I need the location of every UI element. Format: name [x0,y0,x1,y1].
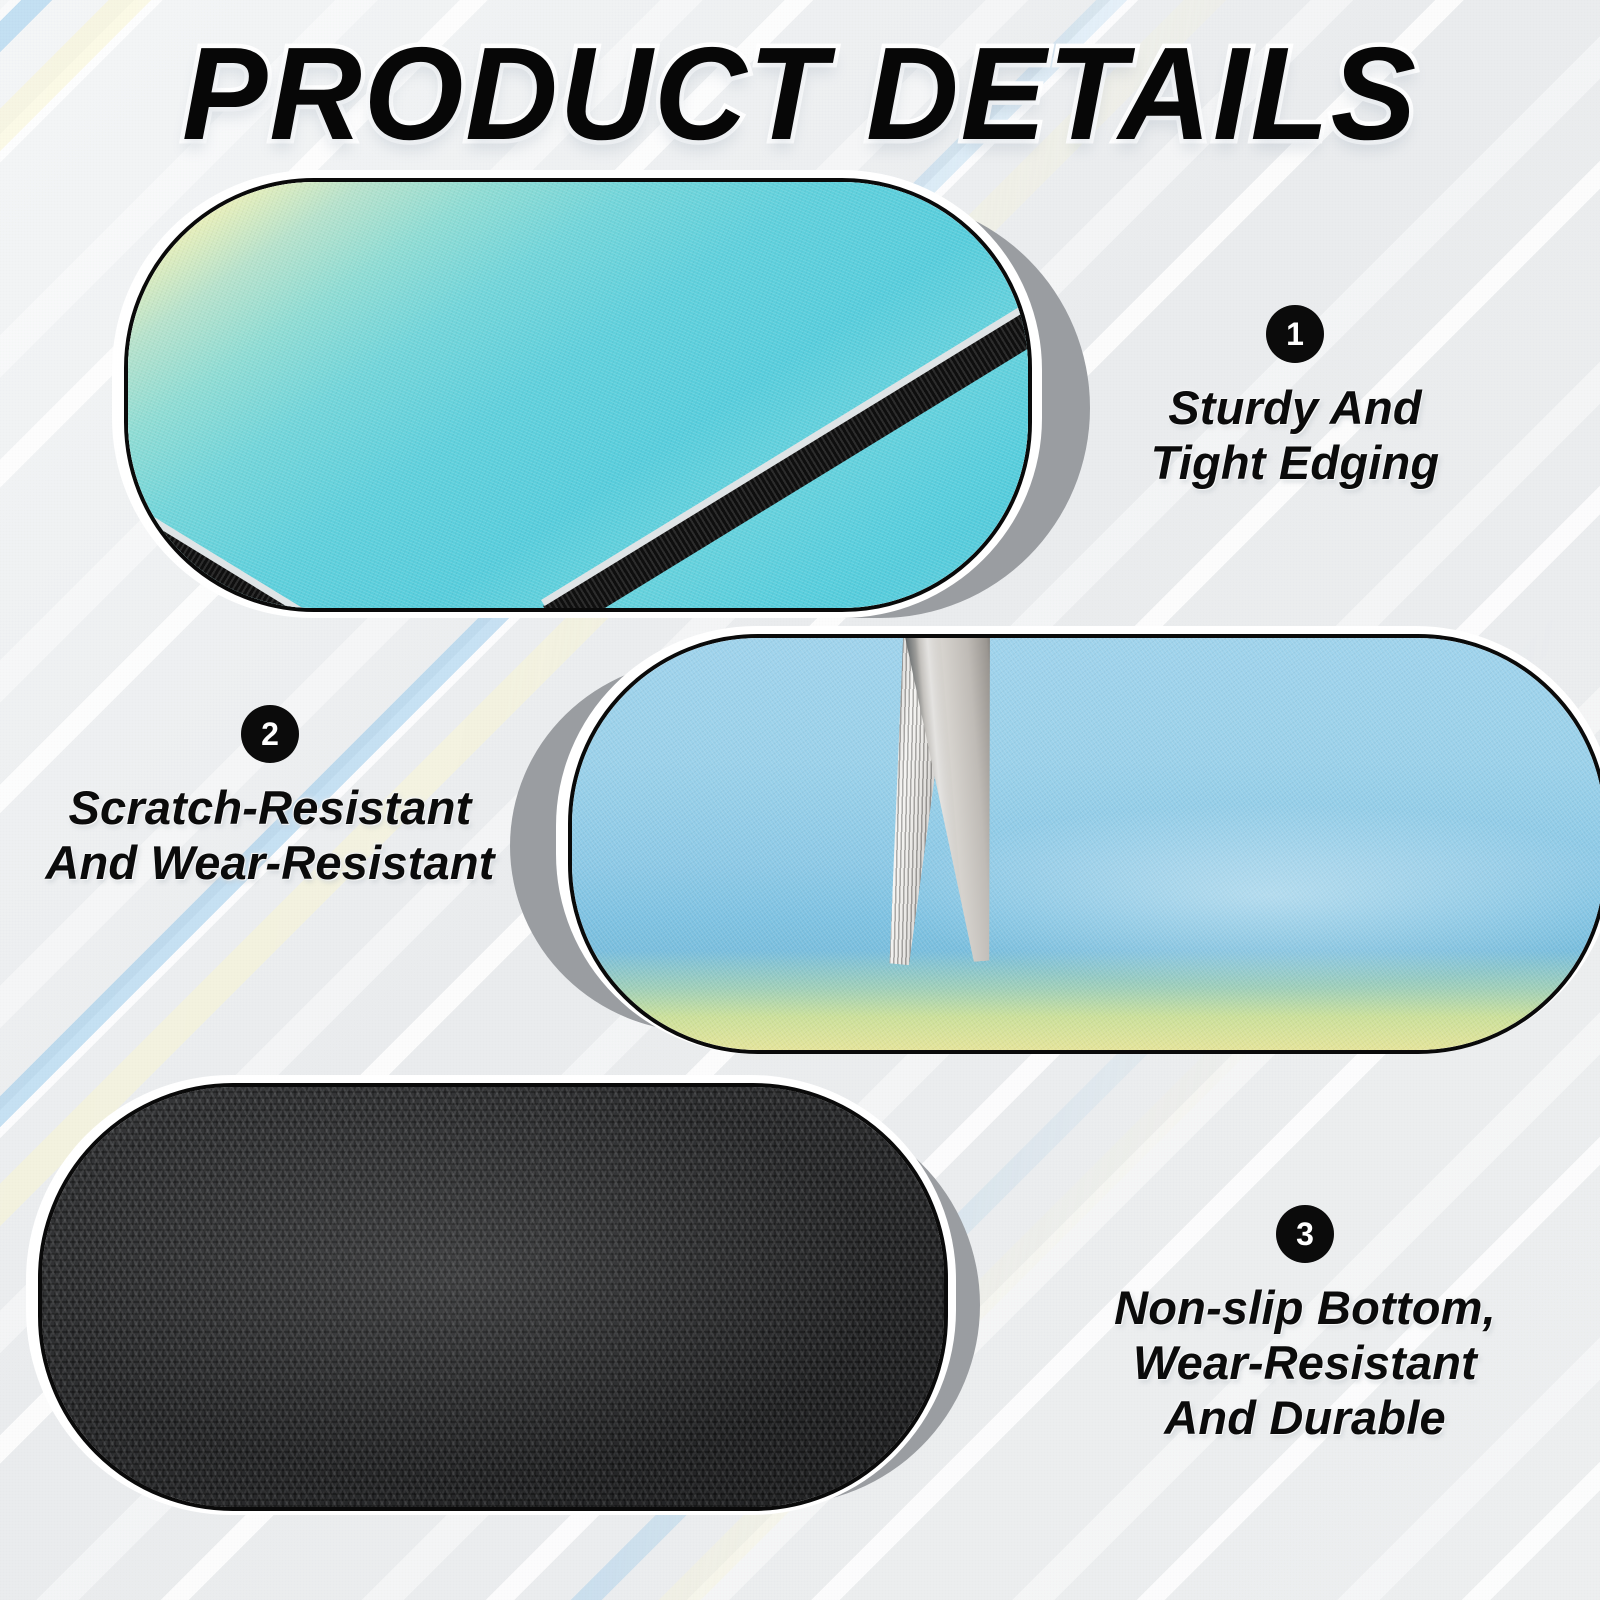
callout-1: 1 Sturdy And Tight Edging [1000,305,1590,491]
page-title: PRODUCT DETAILS [24,28,1576,160]
callout-3-number-badge: 3 [1276,1205,1334,1263]
non-slip-sheen [42,1087,944,1507]
photo-1-image [124,178,1032,612]
mat-blue-surface [572,638,1600,1050]
photo-2-image [568,634,1600,1054]
callout-2-label: Scratch-Resistant And Wear-Resistant [0,781,545,891]
callout-1-label: Sturdy And Tight Edging [1000,381,1590,491]
callout-3-label: Non-slip Bottom, Wear-Resistant And Dura… [1010,1281,1600,1446]
infographic-canvas: PRODUCT DETAILS 1 Sturdy And Tight Edgin… [0,0,1600,1600]
callout-2-number-badge: 2 [241,705,299,763]
callout-1-number-badge: 1 [1266,305,1324,363]
photo-3-image [38,1083,948,1511]
photo-card-1 [60,170,1070,630]
photo-card-2 [520,620,1600,1060]
non-slip-surface [42,1087,944,1507]
photo-card-3 [0,1075,1000,1525]
callout-3: 3 Non-slip Bottom, Wear-Resistant And Du… [1010,1205,1600,1446]
callout-2: 2 Scratch-Resistant And Wear-Resistant [0,705,545,891]
